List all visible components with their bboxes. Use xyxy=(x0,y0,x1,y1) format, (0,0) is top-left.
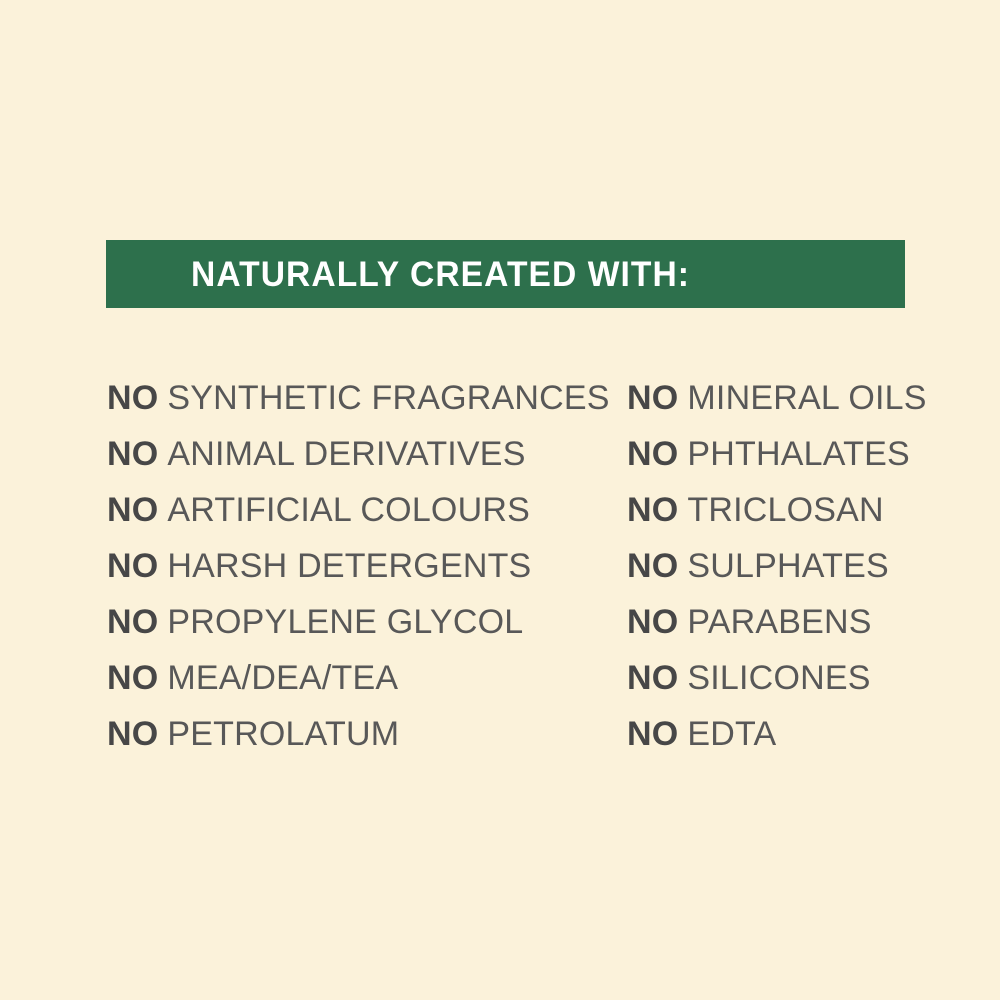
claim-prefix: NO xyxy=(627,605,678,639)
claim-prefix: NO xyxy=(107,717,158,751)
claim-item: NO SULPHATES xyxy=(627,538,927,594)
claim-prefix: NO xyxy=(627,549,678,583)
claim-prefix: NO xyxy=(107,605,158,639)
claim-item: NO SILICONES xyxy=(627,650,927,706)
claim-prefix: NO xyxy=(107,549,158,583)
claim-label: SYNTHETIC FRAGRANCES xyxy=(167,381,609,415)
claim-label: SILICONES xyxy=(687,661,870,695)
claim-label: PHTHALATES xyxy=(687,437,909,471)
claim-label: MINERAL OILS xyxy=(687,381,926,415)
claim-prefix: NO xyxy=(107,493,158,527)
claim-prefix: NO xyxy=(627,717,678,751)
header-banner: NATURALLY CREATED WITH: xyxy=(106,240,905,308)
claim-label: EDTA xyxy=(687,717,776,751)
claim-item: NO ARTIFICIAL COLOURS xyxy=(107,482,610,538)
claim-item: NO PARABENS xyxy=(627,594,927,650)
claim-label: PETROLATUM xyxy=(167,717,399,751)
claim-prefix: NO xyxy=(627,437,678,471)
claim-item: NO PETROLATUM xyxy=(107,706,610,762)
claim-item: NO TRICLOSAN xyxy=(627,482,927,538)
banner-title: NATURALLY CREATED WITH: xyxy=(191,257,690,292)
claim-label: TRICLOSAN xyxy=(687,493,883,527)
claim-item: NO PROPYLENE GLYCOL xyxy=(107,594,610,650)
claim-item: NO EDTA xyxy=(627,706,927,762)
claim-label: SULPHATES xyxy=(687,549,888,583)
claim-item: NO MINERAL OILS xyxy=(627,370,927,426)
claim-label: MEA/DEA/TEA xyxy=(167,661,398,695)
claim-label: ANIMAL DERIVATIVES xyxy=(167,437,525,471)
claims-column-left: NO SYNTHETIC FRAGRANCES NO ANIMAL DERIVA… xyxy=(107,370,610,762)
claim-prefix: NO xyxy=(627,381,678,415)
claim-label: ARTIFICIAL COLOURS xyxy=(167,493,530,527)
claim-item: NO HARSH DETERGENTS xyxy=(107,538,610,594)
claim-item: NO MEA/DEA/TEA xyxy=(107,650,610,706)
claim-prefix: NO xyxy=(107,661,158,695)
claim-label: PARABENS xyxy=(687,605,871,639)
claim-prefix: NO xyxy=(107,437,158,471)
poster-canvas: NATURALLY CREATED WITH: NO SYNTHETIC FRA… xyxy=(0,0,1000,1000)
claim-item: NO ANIMAL DERIVATIVES xyxy=(107,426,610,482)
claim-label: HARSH DETERGENTS xyxy=(167,549,531,583)
claims-column-right: NO MINERAL OILS NO PHTHALATES NO TRICLOS… xyxy=(627,370,927,762)
claim-item: NO PHTHALATES xyxy=(627,426,927,482)
claim-prefix: NO xyxy=(107,381,158,415)
claim-prefix: NO xyxy=(627,661,678,695)
claim-item: NO SYNTHETIC FRAGRANCES xyxy=(107,370,610,426)
claim-prefix: NO xyxy=(627,493,678,527)
claim-label: PROPYLENE GLYCOL xyxy=(167,605,523,639)
